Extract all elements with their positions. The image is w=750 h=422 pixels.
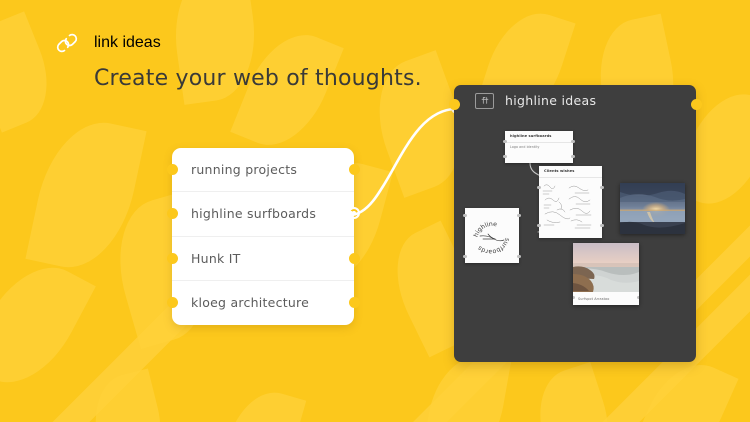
link-icon xyxy=(52,28,82,58)
panel-header: highline ideas xyxy=(454,85,696,116)
note-nub[interactable] xyxy=(503,155,506,158)
list-item[interactable]: Hunk IT xyxy=(172,237,354,281)
connector-nub-left[interactable] xyxy=(167,297,178,308)
list-item[interactable]: running projects xyxy=(172,148,354,192)
list-item-label: kloeg architecture xyxy=(191,295,309,310)
eyebrow-label: link ideas xyxy=(94,34,161,52)
note-brand[interactable]: highline surfboards Logo and identity xyxy=(505,131,573,163)
note-title: highline surfboards xyxy=(505,131,573,140)
connector-nub-left[interactable] xyxy=(167,253,178,264)
note-nub[interactable] xyxy=(637,296,639,299)
list-item-selected[interactable]: highline surfboards xyxy=(172,192,354,236)
list-item-label: highline surfboards xyxy=(191,206,316,221)
header: link ideas Create your web of thoughts. xyxy=(52,26,572,91)
board-icon xyxy=(475,93,494,109)
project-list-card: running projects highline surfboards Hun… xyxy=(172,148,354,325)
list-item[interactable]: kloeg architecture xyxy=(172,281,354,325)
connector-nub-left[interactable] xyxy=(167,164,178,175)
photo-caption: Surfspot Arrastao xyxy=(578,297,609,301)
note-title: Clients wishes xyxy=(539,166,602,175)
panel-title: highline ideas xyxy=(505,93,596,108)
note-logo[interactable]: highline surfboards xyxy=(465,208,519,263)
connector-nub-right[interactable] xyxy=(349,253,360,264)
connector-nub-right[interactable] xyxy=(349,297,360,308)
app-screen: link ideas Create your web of thoughts. … xyxy=(0,0,750,422)
svg-text:surfboards: surfboards xyxy=(477,237,511,255)
list-item-label: running projects xyxy=(191,162,297,177)
photo-sunset[interactable] xyxy=(620,183,685,234)
photo-caption-bar: Surfspot Arrastao xyxy=(573,292,639,305)
connector-nub-left[interactable] xyxy=(167,208,178,219)
list-item-label: Hunk IT xyxy=(191,251,241,266)
photo-surfspot[interactable]: Surfspot Arrastao xyxy=(573,243,639,305)
note-sketch[interactable]: Clients wishes xyxy=(539,166,602,238)
note-subtitle: Logo and identity xyxy=(505,145,573,149)
idea-board-panel: highline ideas highline surfboards Logo … xyxy=(454,85,696,362)
idea-canvas[interactable]: highline surfboards Logo and identity Cl… xyxy=(454,116,696,362)
logo-text-bottom: surfboards xyxy=(477,237,511,255)
